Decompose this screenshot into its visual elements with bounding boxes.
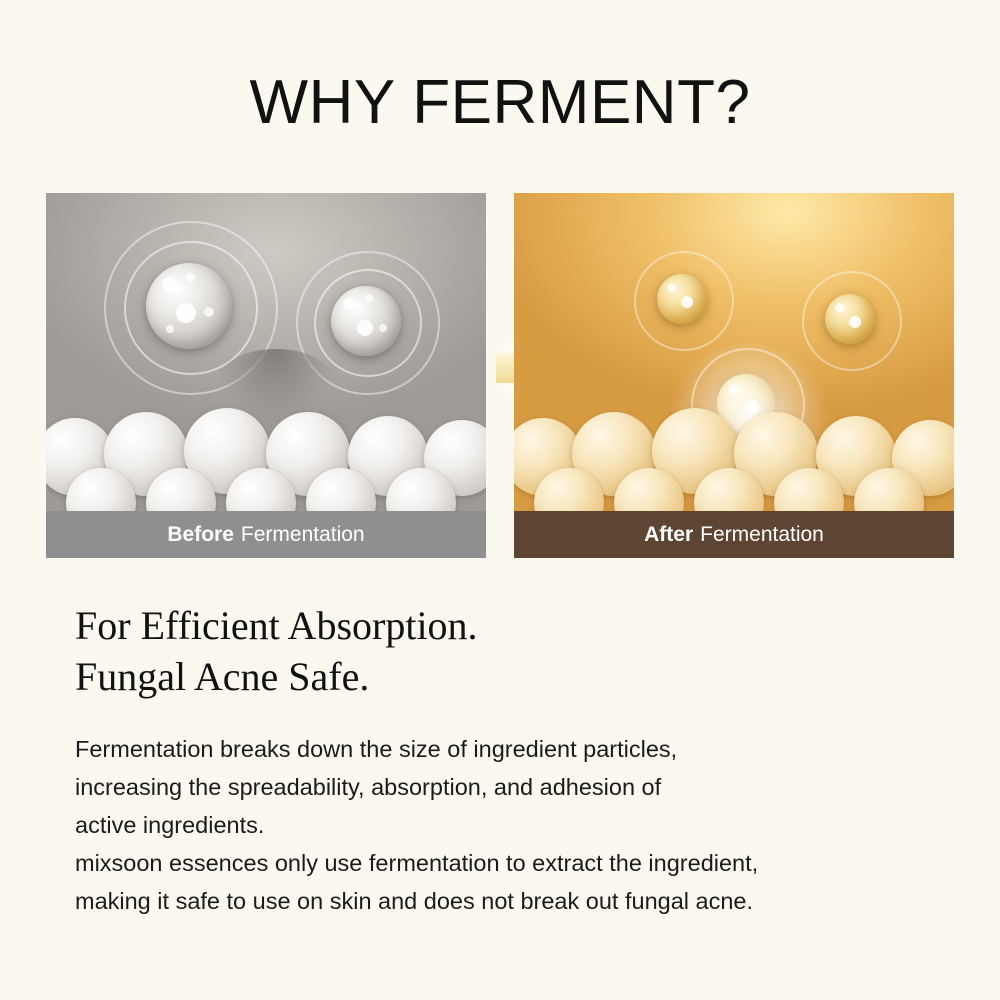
body-copy: Fermentation breaks down the size of ing… <box>75 730 945 920</box>
body-line-5: making it safe to use on skin and does n… <box>75 882 945 920</box>
before-panel: Before Fermentation <box>46 193 486 558</box>
after-caption-rest: Fermentation <box>700 523 824 547</box>
bubble-icon <box>357 320 373 336</box>
bubble-icon <box>204 307 214 317</box>
bubble-icon <box>162 277 176 291</box>
before-illustration <box>46 193 486 511</box>
molecule-core-small <box>825 294 875 344</box>
body-line-2: increasing the spreadability, absorption… <box>75 768 945 806</box>
bubble-icon <box>343 298 355 310</box>
after-panel: After Fermentation <box>514 193 954 558</box>
page-title: WHY FERMENT? <box>0 72 1000 134</box>
before-caption-strong: Before <box>167 523 234 547</box>
bubble-icon <box>365 294 373 302</box>
after-caption-strong: After <box>644 523 693 547</box>
molecule-core-small <box>657 274 707 324</box>
skin-cell-layer <box>46 382 486 511</box>
body-line-3: active ingredients. <box>75 806 945 844</box>
subheading-line-2: Fungal Acne Safe. <box>75 651 935 702</box>
before-caption-rest: Fermentation <box>241 523 365 547</box>
bubble-icon <box>176 303 196 323</box>
molecule-core-small <box>331 286 401 356</box>
bubble-icon <box>186 273 195 282</box>
promo-page: WHY FERMENT? <box>0 0 1000 1000</box>
bubble-icon <box>835 303 844 312</box>
after-caption: After Fermentation <box>514 511 954 558</box>
skin-cell-layer <box>514 382 954 511</box>
bubble-icon <box>667 283 676 292</box>
before-after-comparison: Before Fermentation <box>46 193 954 558</box>
body-line-4: mixsoon essences only use fermentation t… <box>75 844 945 882</box>
after-illustration <box>514 193 954 511</box>
bubble-icon <box>849 316 861 328</box>
subheading: For Efficient Absorption. Fungal Acne Sa… <box>75 600 935 702</box>
bubble-icon <box>379 324 387 332</box>
molecule-core-large <box>146 263 232 349</box>
bubble-icon <box>681 296 693 308</box>
bubble-icon <box>166 325 174 333</box>
before-caption: Before Fermentation <box>46 511 486 558</box>
body-line-1: Fermentation breaks down the size of ing… <box>75 730 945 768</box>
subheading-line-1: For Efficient Absorption. <box>75 600 935 651</box>
